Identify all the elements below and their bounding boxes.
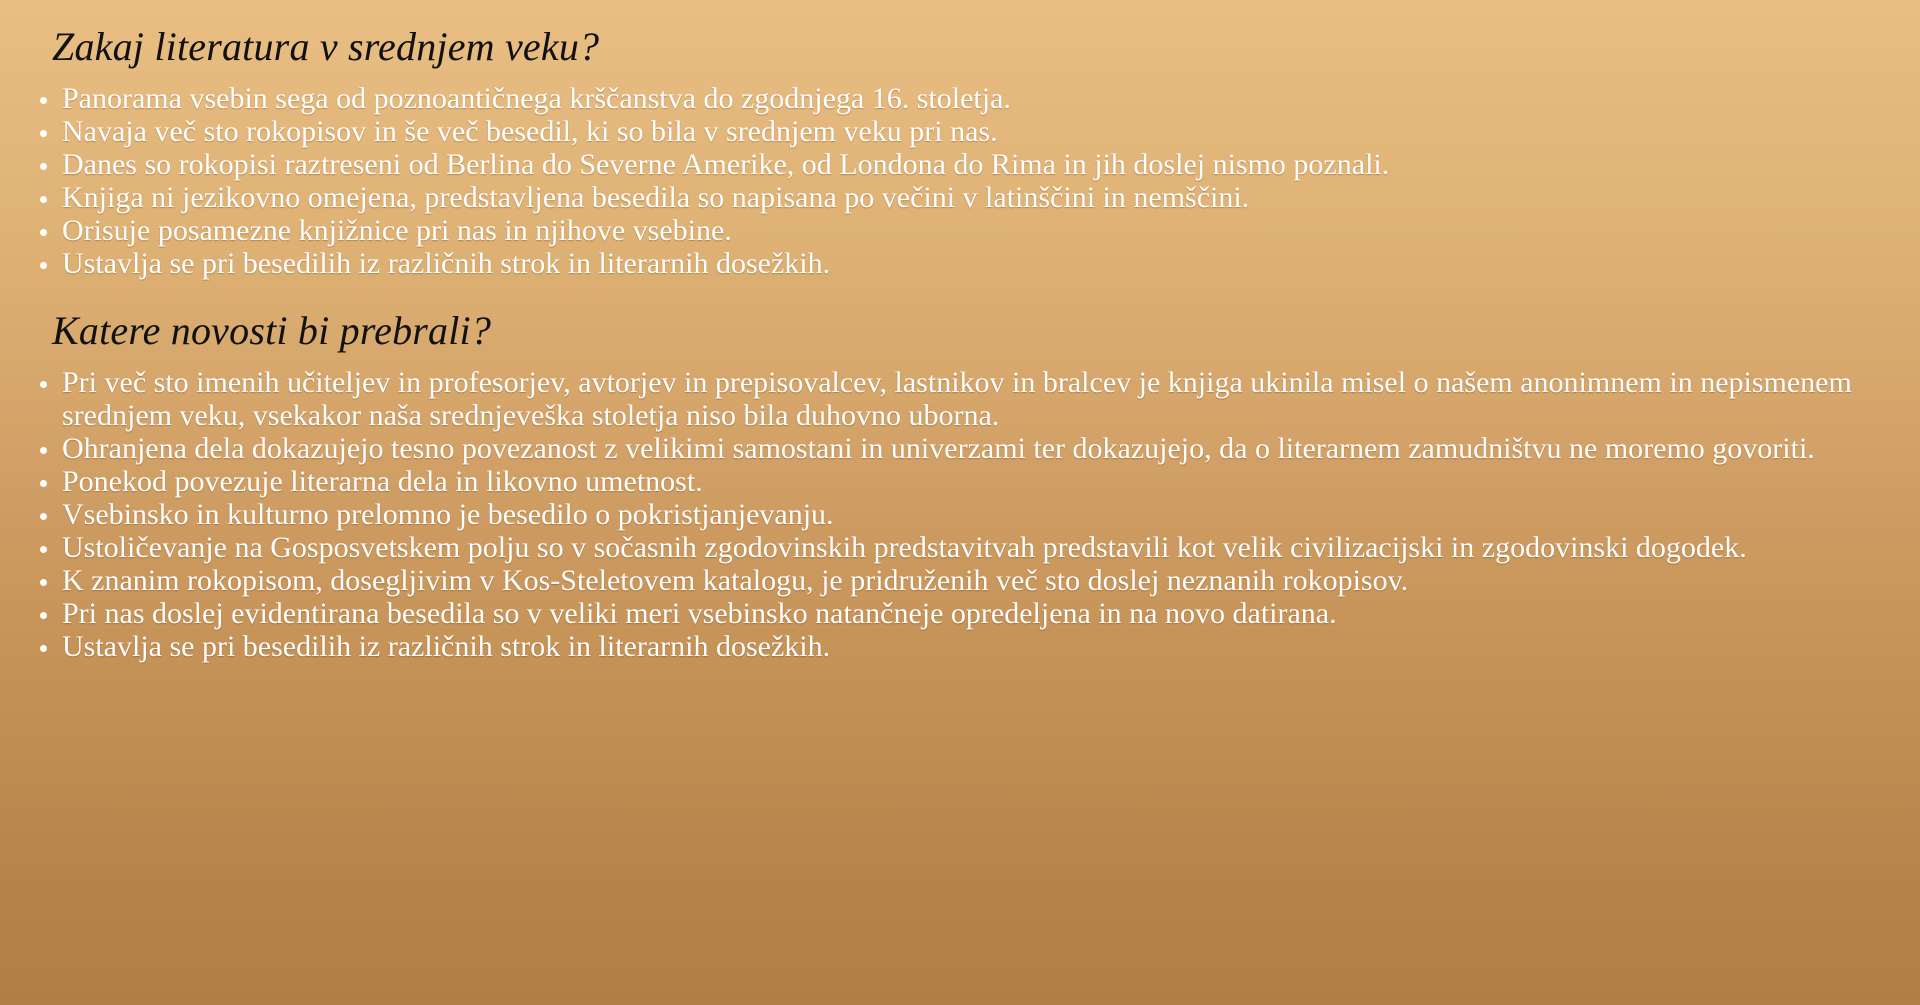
list-item: Ustoličevanje na Gosposvetskem polju so … bbox=[36, 531, 1876, 564]
presentation-slide: Zakaj literatura v srednjem veku? Panora… bbox=[0, 0, 1920, 1005]
list-item: K znanim rokopisom, dosegljivim v Kos-St… bbox=[36, 564, 1876, 597]
section-one-heading: Zakaj literatura v srednjem veku? bbox=[52, 24, 1920, 70]
list-item: Ustavlja se pri besedilih iz različnih s… bbox=[36, 247, 1916, 280]
list-item: Danes so rokopisi raztreseni od Berlina … bbox=[36, 148, 1916, 181]
list-item: Vsebinsko in kulturno prelomno je besedi… bbox=[36, 498, 1876, 531]
list-item: Ohranjena dela dokazujejo tesno povezano… bbox=[36, 432, 1876, 465]
list-item: Ustavlja se pri besedilih iz različnih s… bbox=[36, 630, 1876, 663]
section-one-bullet-list: Panorama vsebin sega od poznoantičnega k… bbox=[0, 82, 1920, 280]
section-two-heading: Katere novosti bi prebrali? bbox=[52, 308, 1920, 354]
list-item: Orisuje posamezne knjižnice pri nas in n… bbox=[36, 214, 1916, 247]
list-item: Pri nas doslej evidentirana besedila so … bbox=[36, 597, 1876, 630]
list-item: Ponekod povezuje literarna dela in likov… bbox=[36, 465, 1876, 498]
section-two-bullet-list: Pri več sto imenih učiteljev in profesor… bbox=[0, 366, 1920, 663]
list-item: Panorama vsebin sega od poznoantičnega k… bbox=[36, 82, 1916, 115]
slide-section-one: Zakaj literatura v srednjem veku? Panora… bbox=[0, 24, 1920, 280]
slide-section-two: Katere novosti bi prebrali? Pri več sto … bbox=[0, 308, 1920, 663]
list-item: Pri več sto imenih učiteljev in profesor… bbox=[36, 366, 1876, 432]
list-item: Navaja več sto rokopisov in še več besed… bbox=[36, 115, 1916, 148]
list-item: Knjiga ni jezikovno omejena, predstavlje… bbox=[36, 181, 1916, 214]
